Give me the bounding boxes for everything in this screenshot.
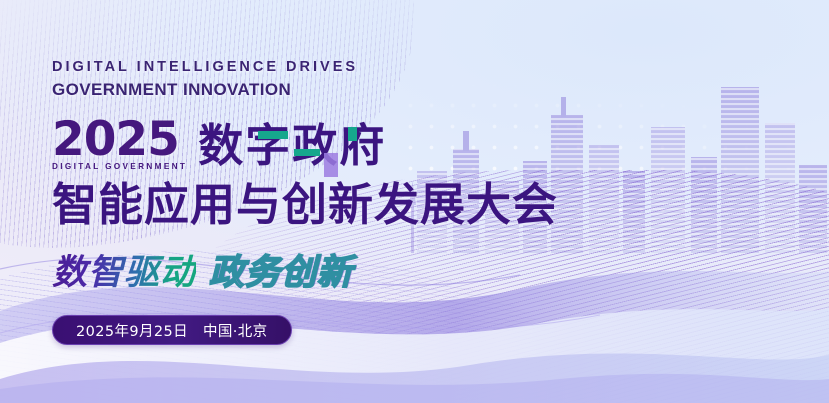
year-block: 2025 DIGITAL GOVERNMENT — [52, 118, 187, 171]
year-subtitle: DIGITAL GOVERNMENT — [52, 162, 187, 171]
slogan-solid: 数智驱动 — [52, 244, 196, 295]
title-line2: 智能应用与创新发展大会 — [52, 181, 692, 228]
slogan-outline: 政务创新 — [209, 244, 353, 295]
slogan-row: 数智驱动 政务创新 — [52, 244, 692, 295]
title-line1: 数字政府 — [198, 123, 386, 168]
year-number: 2025 — [52, 118, 187, 161]
english-tagline-line2: GOVERNMENT INNOVATION — [52, 79, 692, 101]
title-primary-row: 2025 DIGITAL GOVERNMENT 数字政府 — [52, 118, 692, 171]
conference-banner: DIGITAL INTELLIGENCE DRIVES GOVERNMENT I… — [0, 0, 829, 403]
banner-content: DIGITAL INTELLIGENCE DRIVES GOVERNMENT I… — [52, 58, 692, 345]
title-line1-text: 数字政府 — [198, 119, 386, 172]
english-tagline-line1: DIGITAL INTELLIGENCE DRIVES — [52, 58, 692, 77]
date-location-badge: 2025年9月25日 中国·北京 — [52, 315, 292, 345]
